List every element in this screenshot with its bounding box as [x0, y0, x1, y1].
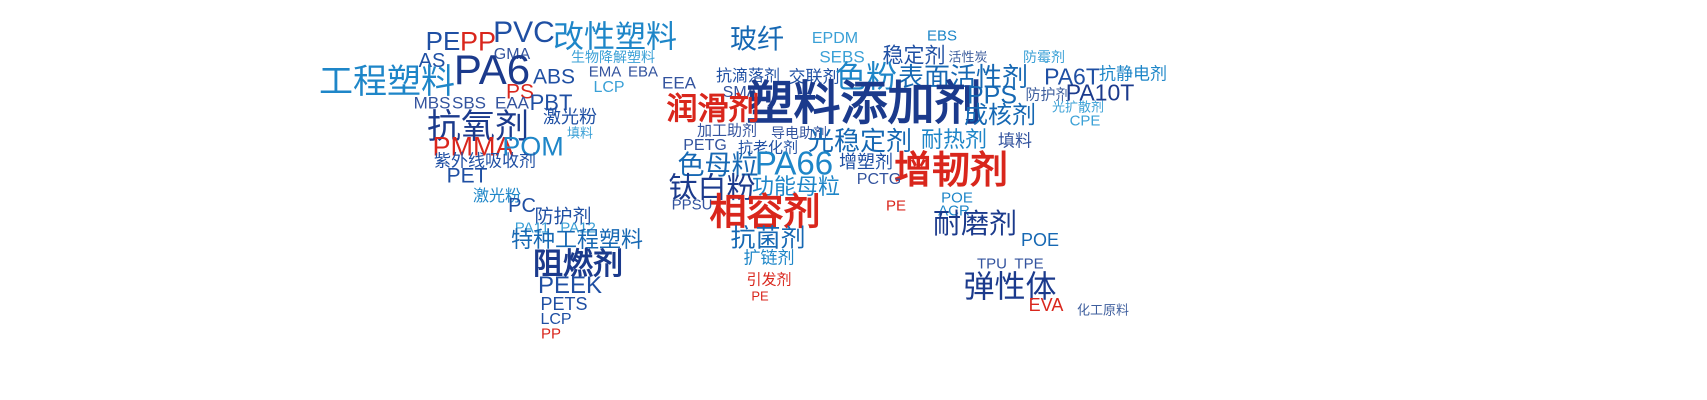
word-cloud-term[interactable]: PCTG: [857, 172, 901, 188]
word-cloud-term[interactable]: PC: [508, 196, 536, 216]
word-cloud-term[interactable]: POE: [1021, 231, 1059, 249]
word-cloud-term[interactable]: PE: [751, 290, 768, 303]
word-cloud-term[interactable]: 改性塑料: [553, 23, 677, 54]
word-cloud-term[interactable]: 扩链剂: [744, 251, 795, 268]
word-cloud-term[interactable]: ABS: [533, 67, 575, 88]
word-cloud-term[interactable]: PET: [447, 166, 488, 187]
word-cloud-term[interactable]: EPDM: [812, 31, 858, 47]
word-cloud-term[interactable]: PVC: [493, 18, 555, 48]
word-cloud-term[interactable]: PP: [541, 327, 561, 342]
word-cloud-term[interactable]: 成核剂: [964, 103, 1036, 127]
word-cloud-term[interactable]: 填料: [567, 128, 593, 141]
word-cloud-term[interactable]: 抗菌剂: [730, 226, 805, 251]
word-cloud-term[interactable]: 玻纤: [730, 27, 784, 54]
word-cloud-term[interactable]: 增韧剂: [894, 151, 1008, 189]
word-cloud-term[interactable]: 增塑剂: [839, 154, 893, 172]
word-cloud-canvas: PEPPPVCGMA改性塑料玻纤EPDMEBSASPA6生物降解塑料SEBS稳定…: [0, 0, 1707, 400]
word-cloud-term[interactable]: 化工原料: [1077, 305, 1129, 318]
word-cloud-term[interactable]: EVA: [1029, 296, 1064, 314]
word-cloud-term[interactable]: 塑料添加剂: [747, 81, 982, 128]
word-cloud-term[interactable]: PE: [886, 199, 906, 214]
word-cloud-term[interactable]: 引发剂: [746, 273, 791, 288]
word-cloud-term[interactable]: CPE: [1070, 114, 1101, 129]
word-cloud-term[interactable]: EBA: [628, 65, 658, 80]
word-cloud-term[interactable]: LCP: [593, 80, 624, 96]
word-cloud-term[interactable]: EMA: [589, 65, 622, 80]
word-cloud-term[interactable]: EEA: [662, 75, 696, 92]
word-cloud-term[interactable]: 激光粉: [543, 109, 597, 127]
word-cloud-term[interactable]: PPSU: [672, 198, 713, 213]
word-cloud-term[interactable]: EBS: [927, 29, 957, 44]
word-cloud-term[interactable]: 耐磨剂: [933, 210, 1017, 238]
